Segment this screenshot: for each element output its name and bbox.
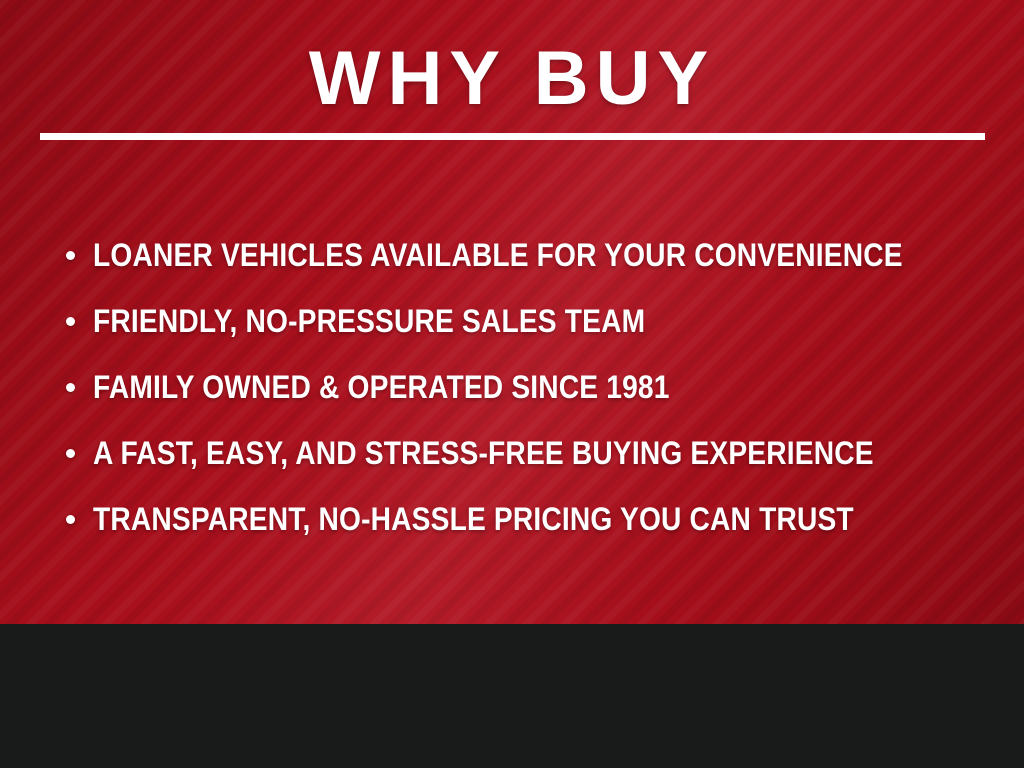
footer-bar: CIRCLE BUICK GMC HUMMER EV YOUR HOME FOR… bbox=[0, 624, 1024, 768]
list-item-label: FRIENDLY, NO-PRESSURE SALES TEAM bbox=[93, 304, 645, 338]
why-buy-slide: WHY BUY LOANER VEHICLES AVAILABLE FOR YO… bbox=[0, 0, 1024, 768]
bullet-dot-icon bbox=[66, 449, 75, 458]
list-item: LOANER VEHICLES AVAILABLE FOR YOUR CONVE… bbox=[66, 222, 986, 288]
list-item-label: FAMILY OWNED & OPERATED SINCE 1981 bbox=[93, 370, 670, 404]
list-item: TRANSPARENT, NO-HASSLE PRICING YOU CAN T… bbox=[66, 486, 986, 552]
title-divider bbox=[40, 133, 985, 140]
list-item-label: A FAST, EASY, AND STRESS-FREE BUYING EXP… bbox=[93, 436, 874, 470]
bullet-dot-icon bbox=[66, 383, 75, 392]
list-item-label: LOANER VEHICLES AVAILABLE FOR YOUR CONVE… bbox=[93, 238, 903, 272]
list-item: FRIENDLY, NO-PRESSURE SALES TEAM bbox=[66, 288, 986, 354]
list-item-label: TRANSPARENT, NO-HASSLE PRICING YOU CAN T… bbox=[93, 502, 854, 536]
list-item: FAMILY OWNED & OPERATED SINCE 1981 bbox=[66, 354, 986, 420]
list-item: A FAST, EASY, AND STRESS-FREE BUYING EXP… bbox=[66, 420, 986, 486]
bullet-dot-icon bbox=[66, 251, 75, 260]
bullet-dot-icon bbox=[66, 317, 75, 326]
page-title: WHY BUY bbox=[0, 40, 1024, 118]
bullet-dot-icon bbox=[66, 515, 75, 524]
benefits-list: LOANER VEHICLES AVAILABLE FOR YOUR CONVE… bbox=[66, 222, 986, 552]
hero-panel: WHY BUY LOANER VEHICLES AVAILABLE FOR YO… bbox=[0, 0, 1024, 624]
